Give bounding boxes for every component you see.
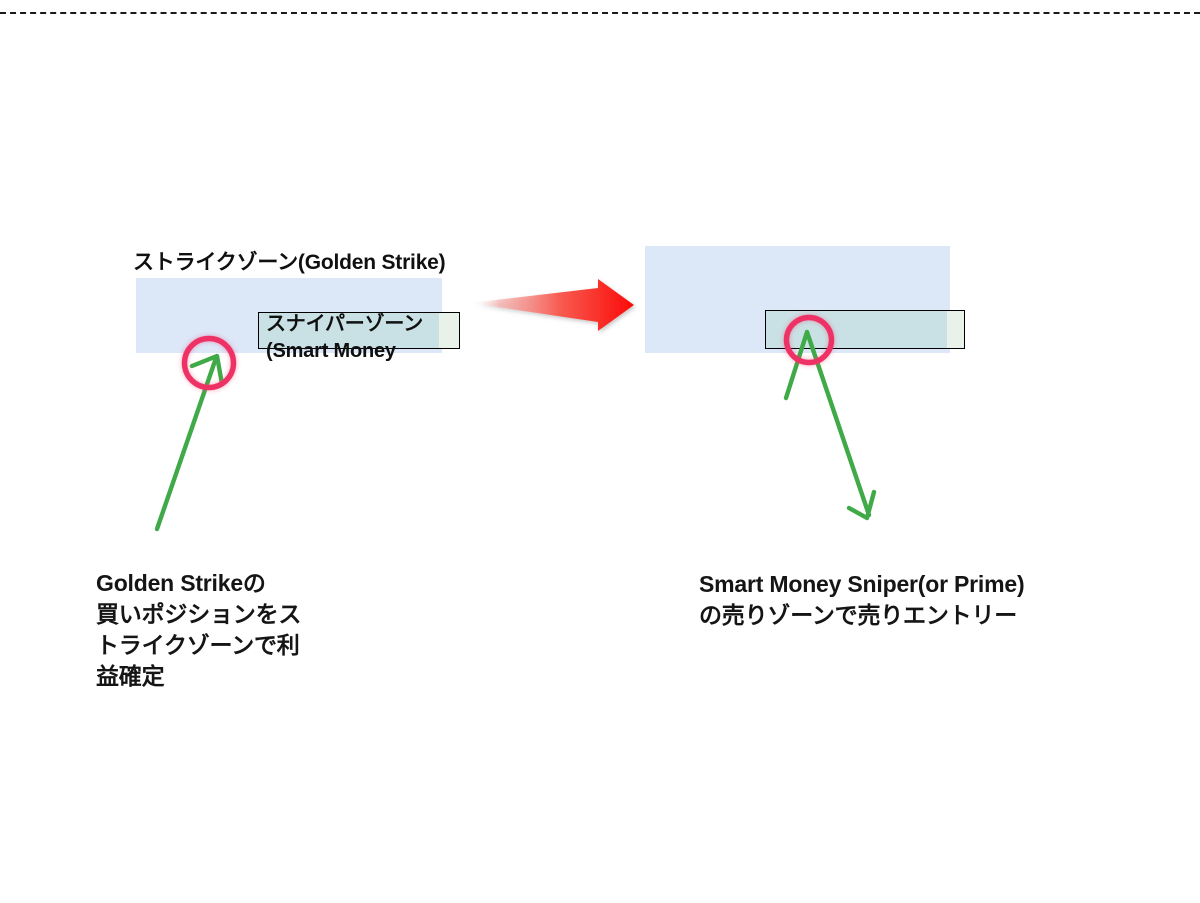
green-up-arrow-icon bbox=[157, 356, 222, 529]
sniper-zone-tail-left bbox=[439, 313, 459, 348]
green-down-arrow-icon bbox=[786, 332, 874, 518]
sniper-zone-tail-right bbox=[947, 311, 964, 348]
strike-zone-label-left: ストライクゾーン(Golden Strike) bbox=[133, 250, 445, 276]
sniper-zone-label-left: スナイパーゾーン (Smart Money bbox=[266, 311, 423, 365]
slide-canvas: ストライクゾーン(Golden Strike) スナイパーゾーン (Smart … bbox=[0, 0, 1200, 903]
sniper-zone-fill-right bbox=[766, 311, 949, 348]
red-right-arrow-icon bbox=[470, 279, 634, 331]
caption-right: Smart Money Sniper(or Prime) の売りゾーンで売りエン… bbox=[699, 569, 1169, 631]
caption-left: Golden Strikeの 買いポジションをス トライクゾーンで利 益確定 bbox=[96, 568, 316, 692]
sniper-zone-box-right bbox=[765, 310, 965, 349]
annotation-overlay bbox=[0, 0, 1200, 903]
